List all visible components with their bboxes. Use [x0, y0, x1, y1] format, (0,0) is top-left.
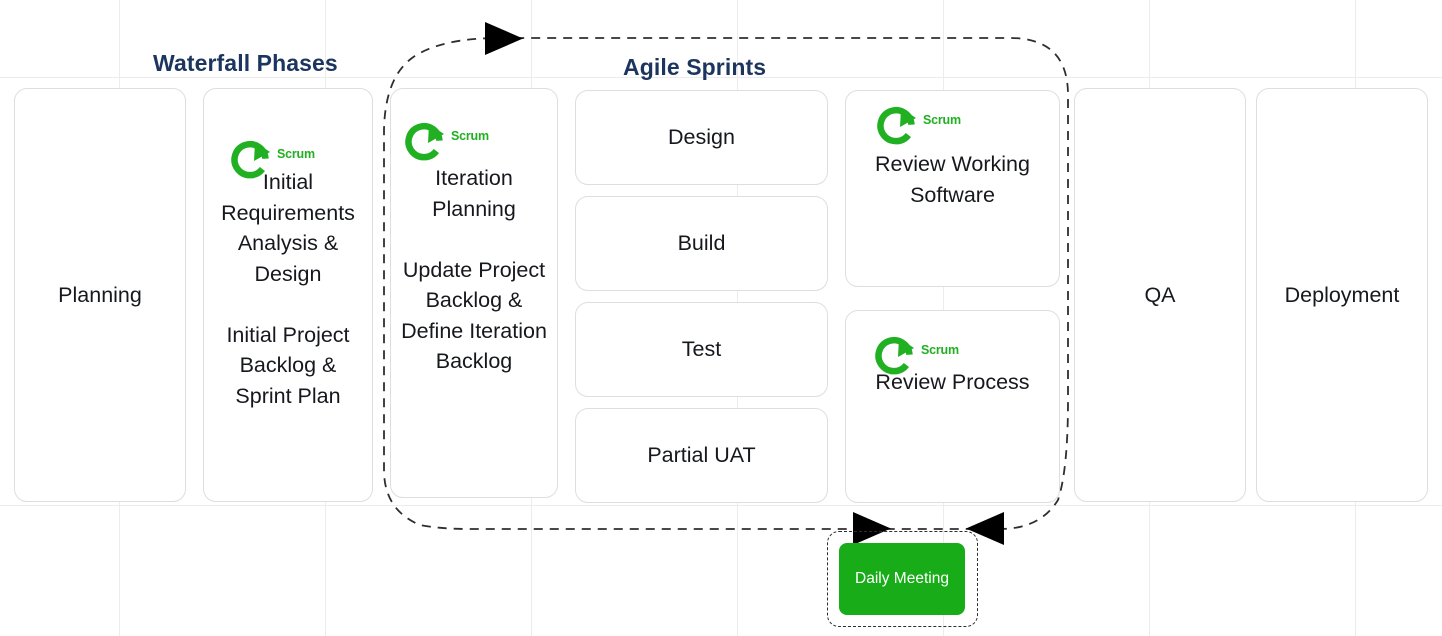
card-iteration-planning[interactable]: Iteration Planning Update Project Backlo… [390, 88, 558, 498]
card-review-working-software-text: Review Working Software [854, 149, 1051, 210]
card-iteration-planning-text-1: Iteration Planning [399, 163, 549, 224]
card-design[interactable]: Design [575, 90, 828, 185]
card-initial-requirements[interactable]: Initial Requirements Analysis & Design I… [203, 88, 373, 502]
grid-line-horizontal [0, 505, 1442, 506]
card-partial-uat[interactable]: Partial UAT [575, 408, 828, 503]
card-initial-requirements-text-2: Initial Project Backlog & Sprint Plan [212, 320, 364, 412]
card-daily-meeting[interactable]: Daily Meeting [839, 543, 965, 615]
card-qa-text: QA [1083, 280, 1237, 311]
card-daily-meeting-text: Daily Meeting [855, 569, 949, 590]
flow-arrow-right-top-icon [485, 22, 525, 56]
card-initial-requirements-text-1: Initial Requirements Analysis & Design [212, 167, 364, 289]
card-qa[interactable]: QA [1074, 88, 1246, 502]
card-build-text: Build [584, 228, 819, 259]
card-test[interactable]: Test [575, 302, 828, 397]
card-deployment-text: Deployment [1265, 280, 1419, 311]
card-test-text: Test [584, 334, 819, 365]
heading-agile-sprints: Agile Sprints [623, 54, 766, 81]
card-partial-uat-text: Partial UAT [584, 440, 819, 471]
diagram-canvas: Waterfall Phases Agile Sprints Planning … [0, 0, 1442, 636]
card-iteration-planning-text-2: Update Project Backlog & Define Iteratio… [399, 255, 549, 377]
card-deployment[interactable]: Deployment [1256, 88, 1428, 502]
card-planning-text: Planning [23, 280, 177, 311]
card-build[interactable]: Build [575, 196, 828, 291]
card-design-text: Design [584, 122, 819, 153]
card-review-working-software[interactable]: Review Working Software [845, 90, 1060, 287]
card-review-process-text: Review Process [854, 367, 1051, 398]
card-planning[interactable]: Planning [14, 88, 186, 502]
card-review-process[interactable]: Review Process [845, 310, 1060, 503]
heading-waterfall-phases: Waterfall Phases [153, 50, 338, 77]
